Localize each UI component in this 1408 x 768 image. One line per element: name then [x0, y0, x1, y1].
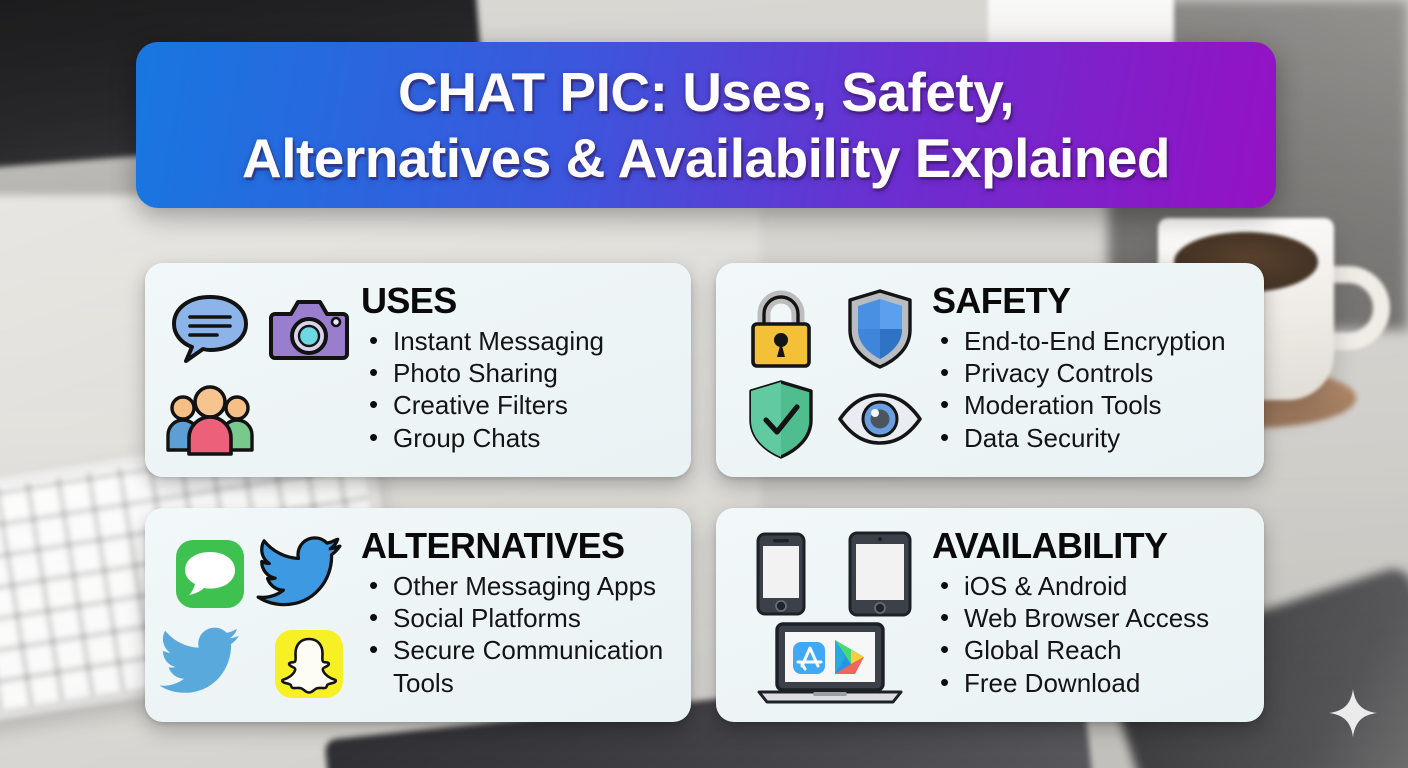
card-uses[interactable]: USES Instant Messaging Photo Sharing Cre…	[145, 263, 691, 477]
page-title-line-2: Alternatives & Availability Explained	[242, 125, 1170, 191]
blue-shield-icon	[835, 285, 925, 373]
smartphone-icon	[736, 530, 826, 618]
card-alternatives[interactable]: ALTERNATIVES Other Messaging Apps Social…	[145, 508, 691, 722]
card-availability-title: AVAILABILITY	[932, 528, 1248, 564]
tablet-icon	[835, 530, 925, 618]
title-banner: CHAT PIC: Uses, Safety, Alternatives & A…	[136, 42, 1276, 208]
page-title-line-1: CHAT PIC: Uses, Safety,	[242, 59, 1170, 125]
list-item: Global Reach	[932, 634, 1248, 666]
people-group-icon	[165, 375, 255, 463]
list-item: Instant Messaging	[361, 325, 675, 357]
list-item: Photo Sharing	[361, 357, 675, 389]
card-safety-body: SAFETY End-to-End Encryption Privacy Con…	[928, 281, 1248, 454]
card-alternatives-title: ALTERNATIVES	[361, 528, 675, 564]
twitter-bird-flat-icon	[165, 620, 255, 708]
list-item: Free Download	[932, 667, 1248, 699]
card-alternatives-list: Other Messaging Apps Social Platforms Se…	[361, 570, 675, 699]
card-alternatives-icons	[161, 526, 357, 708]
card-availability[interactable]: AVAILABILITY iOS & Android Web Browser A…	[716, 508, 1264, 722]
chat-bubble-icon	[165, 285, 255, 373]
list-item: Data Security	[932, 422, 1248, 454]
sparkle-icon	[1328, 688, 1378, 738]
card-uses-title: USES	[361, 283, 675, 319]
eye-icon	[835, 375, 925, 463]
card-uses-list: Instant Messaging Photo Sharing Creative…	[361, 325, 675, 454]
list-item: End-to-End Encryption	[932, 325, 1248, 357]
twitter-bird-icon	[264, 530, 354, 618]
card-availability-list: iOS & Android Web Browser Access Global …	[932, 570, 1248, 699]
uses-icon-empty-slot	[264, 375, 354, 463]
list-item: Other Messaging Apps	[361, 570, 675, 602]
snapchat-icon	[264, 620, 354, 708]
infographic-canvas: CHAT PIC: Uses, Safety, Alternatives & A…	[0, 0, 1408, 768]
card-safety[interactable]: SAFETY End-to-End Encryption Privacy Con…	[716, 263, 1264, 477]
card-uses-body: USES Instant Messaging Photo Sharing Cre…	[357, 281, 675, 454]
page-title: CHAT PIC: Uses, Safety, Alternatives & A…	[242, 59, 1170, 191]
card-availability-body: AVAILABILITY iOS & Android Web Browser A…	[928, 526, 1248, 699]
card-safety-icons	[732, 281, 928, 463]
list-item: Secure Communication Tools	[361, 634, 675, 698]
list-item: Privacy Controls	[932, 357, 1248, 389]
green-shield-check-icon	[736, 375, 826, 463]
camera-icon	[264, 285, 354, 373]
padlock-icon	[736, 285, 826, 373]
list-item: Group Chats	[361, 422, 675, 454]
list-item: Moderation Tools	[932, 389, 1248, 421]
list-item: Web Browser Access	[932, 602, 1248, 634]
card-safety-title: SAFETY	[932, 283, 1248, 319]
imessage-icon	[165, 530, 255, 618]
card-uses-icons	[161, 281, 357, 463]
laptop-appstore-googleplay-icon	[750, 620, 910, 708]
card-alternatives-body: ALTERNATIVES Other Messaging Apps Social…	[357, 526, 675, 699]
card-safety-list: End-to-End Encryption Privacy Controls M…	[932, 325, 1248, 454]
card-availability-icons	[732, 526, 928, 708]
list-item: Creative Filters	[361, 389, 675, 421]
list-item: iOS & Android	[932, 570, 1248, 602]
list-item: Social Platforms	[361, 602, 675, 634]
